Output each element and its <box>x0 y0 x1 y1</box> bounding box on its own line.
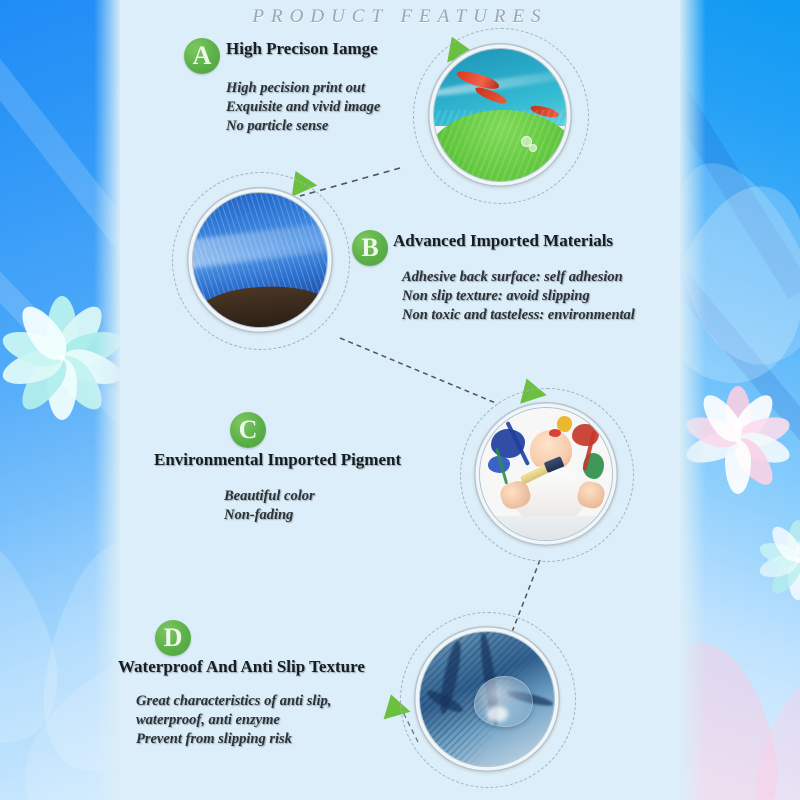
feature-d-line-1: Great characteristics of anti slip, <box>136 692 331 711</box>
feature-badge-d: D <box>155 620 191 656</box>
feature-a-line-1: High pecision print out <box>226 79 380 98</box>
water-bubble <box>529 144 537 152</box>
lily-pad <box>434 110 566 181</box>
feature-badge-b: B <box>352 230 388 266</box>
paint-on-forehead <box>549 429 561 437</box>
feature-heading-b: Advanced Imported Materials <box>393 231 613 251</box>
feature-body-a: High pecision print out Exquisite and vi… <box>226 79 380 136</box>
paint-floor <box>480 516 612 540</box>
feature-d-line-2: waterproof, anti enzyme <box>136 711 331 730</box>
feature-b-image <box>193 193 327 327</box>
feature-badge-a: A <box>184 38 220 74</box>
feature-heading-d: Waterproof And Anti Slip Texture <box>118 657 365 677</box>
feature-b-line-2: Non slip texture: avoid slipping <box>402 287 635 306</box>
feature-body-d: Great characteristics of anti slip, wate… <box>136 692 331 749</box>
feature-c-line-1: Beautiful color <box>224 487 315 506</box>
feature-b-line-3: Non toxic and tasteless: environmental <box>402 306 635 325</box>
feature-body-b: Adhesive back surface: self adhesion Non… <box>402 268 635 325</box>
droplet-highlight <box>487 706 508 722</box>
feature-d-image <box>420 632 554 766</box>
feature-d-line-3: Prevent from slipping risk <box>136 730 331 749</box>
feature-badge-c: C <box>230 412 266 448</box>
feature-heading-c: Environmental Imported Pigment <box>154 450 401 470</box>
feature-body-c: Beautiful color Non-fading <box>224 487 315 525</box>
feature-b-line-1: Adhesive back surface: self adhesion <box>402 268 635 287</box>
product-features-poster: PRODUCT FEATURES A High Precison Iamge H… <box>0 0 800 800</box>
feature-c-image <box>480 408 612 540</box>
feature-heading-a: High Precison Iamge <box>226 39 378 59</box>
feature-a-line-3: No particle sense <box>226 117 380 136</box>
connector-lines <box>0 0 800 800</box>
feature-a-image <box>434 49 566 181</box>
feature-c-line-2: Non-fading <box>224 506 315 525</box>
feature-a-line-2: Exquisite and vivid image <box>226 98 380 117</box>
